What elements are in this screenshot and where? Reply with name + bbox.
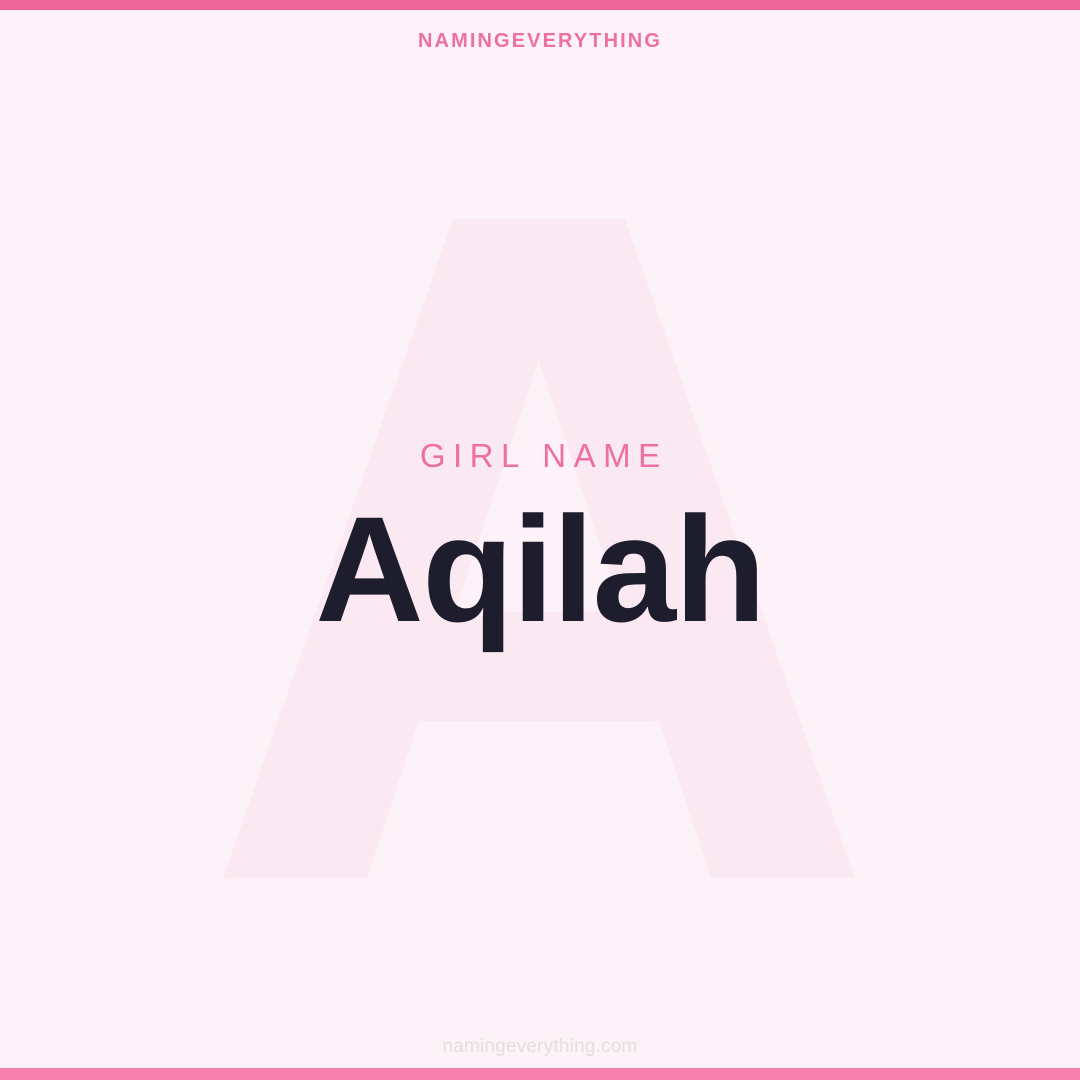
footer-website: namingeverything.com <box>0 1035 1080 1059</box>
center-content: GIRL NAME Aqilah <box>0 0 1080 1080</box>
bottom-accent-bar <box>0 1068 1080 1080</box>
name-card: NAMINGEVERYTHING GIRL NAME Aqilah naming… <box>0 0 1080 1080</box>
name-category-label: GIRL NAME <box>412 436 667 476</box>
page-title: Aqilah <box>315 494 764 644</box>
